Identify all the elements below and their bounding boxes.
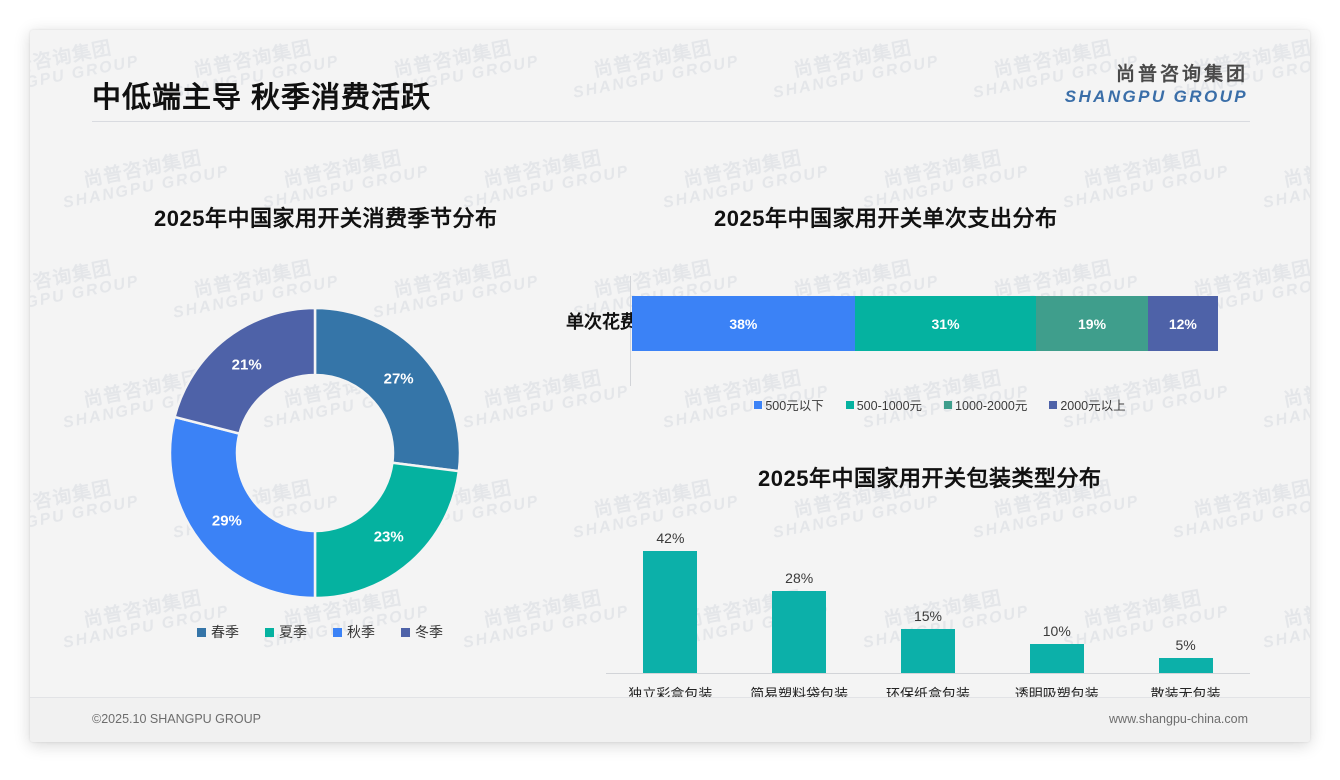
stacked-bar-segment[interactable]: 19% — [1036, 296, 1147, 351]
header-divider — [92, 121, 1250, 122]
stacked-bar-segment[interactable]: 31% — [855, 296, 1037, 351]
watermark-text: 尚普咨询集团SHANGPU GROUP — [1258, 144, 1310, 212]
legend-label: 夏季 — [279, 622, 307, 642]
column-bar-value: 42% — [656, 530, 684, 546]
legend-swatch — [401, 628, 410, 637]
slide-header: 中低端主导 秋季消费活跃 尚普咨询集团 SHANGPU GROUP — [30, 30, 1310, 120]
legend-label: 500元以下 — [765, 395, 823, 414]
legend-swatch — [265, 628, 274, 637]
slide-card: 尚普咨询集团SHANGPU GROUP尚普咨询集团SHANGPU GROUP尚普… — [30, 30, 1310, 742]
legend-item[interactable]: 春季 — [197, 622, 239, 642]
donut-chart-svg — [150, 288, 480, 618]
stacked-bar-track: 38%31%19%12% — [632, 296, 1218, 351]
watermark-text: 尚普咨询集团SHANGPU GROUP — [1258, 364, 1310, 432]
stacked-bar-chart: 单次花费 38%31%19%12% — [630, 276, 1250, 396]
logo-chinese-text: 尚普咨询集团 — [1065, 64, 1248, 87]
column-bar-value: 28% — [785, 570, 813, 586]
column-bar[interactable] — [901, 629, 955, 673]
column-bar-group[interactable]: 10% — [993, 508, 1121, 673]
legend-label: 春季 — [211, 622, 239, 642]
column-bar-group[interactable]: 28% — [735, 508, 863, 673]
legend-item[interactable]: 秋季 — [333, 622, 375, 642]
legend-label: 1000-2000元 — [955, 395, 1027, 414]
legend-item[interactable]: 1000-2000元 — [944, 395, 1027, 414]
legend-swatch — [846, 401, 854, 409]
legend-label: 秋季 — [347, 622, 375, 642]
column-bar-value: 10% — [1043, 623, 1071, 639]
watermark-text: 尚普咨询集团SHANGPU GROUP — [30, 254, 141, 322]
column-bar[interactable] — [1159, 658, 1213, 673]
watermark-text: 尚普咨询集团SHANGPU GROUP — [1058, 144, 1231, 212]
watermark-text: 尚普咨询集团SHANGPU GROUP — [458, 364, 631, 432]
donut-chart-legend: 春季夏季秋季冬季 — [150, 622, 490, 642]
column-bar[interactable] — [772, 591, 826, 673]
legend-swatch — [754, 401, 762, 409]
donut-slice-label: 29% — [212, 513, 242, 530]
legend-label: 冬季 — [415, 622, 443, 642]
column-bar-group[interactable]: 15% — [864, 508, 992, 673]
column-bar-value: 5% — [1175, 637, 1195, 653]
legend-item[interactable]: 500元以下 — [754, 395, 823, 414]
company-logo: 尚普咨询集团 SHANGPU GROUP — [1065, 64, 1248, 107]
donut-slice-label: 23% — [374, 528, 404, 545]
column-bar-group[interactable]: 42% — [606, 508, 734, 673]
legend-item[interactable]: 2000元以上 — [1049, 395, 1125, 414]
column-bar[interactable] — [1030, 644, 1084, 673]
legend-item[interactable]: 500-1000元 — [846, 395, 922, 414]
legend-swatch — [944, 401, 952, 409]
legend-item[interactable]: 夏季 — [265, 622, 307, 642]
stacked-bar-title: 2025年中国家用开关单次支出分布 — [714, 201, 1057, 233]
footer-copyright: ©2025.10 SHANGPU GROUP — [92, 712, 261, 726]
legend-swatch — [1049, 401, 1057, 409]
column-bar[interactable] — [643, 551, 697, 674]
legend-swatch — [197, 628, 206, 637]
slide-footer: ©2025.10 SHANGPU GROUP www.shangpu-china… — [30, 697, 1310, 742]
donut-slice-label: 27% — [384, 371, 414, 388]
donut-slice[interactable] — [170, 417, 315, 598]
donut-chart: 27%23%29%21% — [150, 288, 480, 618]
page-title: 中低端主导 秋季消费活跃 — [92, 74, 431, 116]
legend-label: 2000元以上 — [1060, 395, 1125, 414]
watermark-text: 尚普咨询集团SHANGPU GROUP — [1258, 584, 1310, 652]
column-bar-group[interactable]: 5% — [1122, 508, 1250, 673]
stacked-bar-segment[interactable]: 12% — [1148, 296, 1218, 351]
column-chart-plot: 42%28%15%10%5% — [606, 508, 1250, 673]
footer-website: www.shangpu-china.com — [1109, 712, 1248, 726]
stacked-bar-row-label: 单次花费 — [566, 308, 638, 334]
column-chart-axis-line — [606, 673, 1250, 674]
donut-chart-title: 2025年中国家用开关消费季节分布 — [154, 201, 497, 233]
legend-swatch — [333, 628, 342, 637]
column-chart: 42%28%15%10%5% 独立彩盒包装简易塑料袋包装环保纸盒包装透明吸塑包装… — [606, 508, 1250, 718]
stacked-bar-segment[interactable]: 38% — [632, 296, 855, 351]
legend-label: 500-1000元 — [857, 395, 922, 414]
donut-slice[interactable] — [315, 308, 460, 471]
column-chart-title: 2025年中国家用开关包装类型分布 — [758, 461, 1101, 493]
logo-english-text: SHANGPU GROUP — [1065, 87, 1248, 107]
donut-slice-label: 21% — [232, 356, 262, 373]
legend-item[interactable]: 冬季 — [401, 622, 443, 642]
column-bar-value: 15% — [914, 608, 942, 624]
watermark-text: 尚普咨询集团SHANGPU GROUP — [30, 474, 141, 542]
stacked-bar-legend: 500元以下500-1000元1000-2000元2000元以上 — [630, 395, 1250, 414]
